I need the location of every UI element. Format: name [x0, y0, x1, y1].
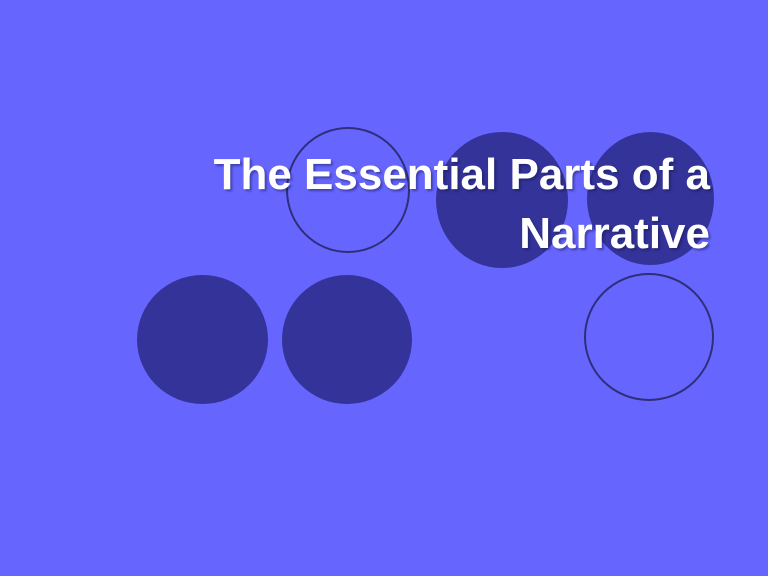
- decorative-circle-filled-bottom-middle: [282, 275, 412, 404]
- decorative-circle-outline-bottom-right: [584, 273, 714, 401]
- decorative-shapes-layer: [0, 0, 768, 576]
- slide-title: The Essential Parts of a Narrative: [76, 146, 710, 264]
- presentation-slide: The Essential Parts of a Narrative: [0, 0, 768, 576]
- slide-title-block: The Essential Parts of a Narrative: [76, 146, 710, 264]
- decorative-circle-filled-bottom-left: [137, 275, 268, 404]
